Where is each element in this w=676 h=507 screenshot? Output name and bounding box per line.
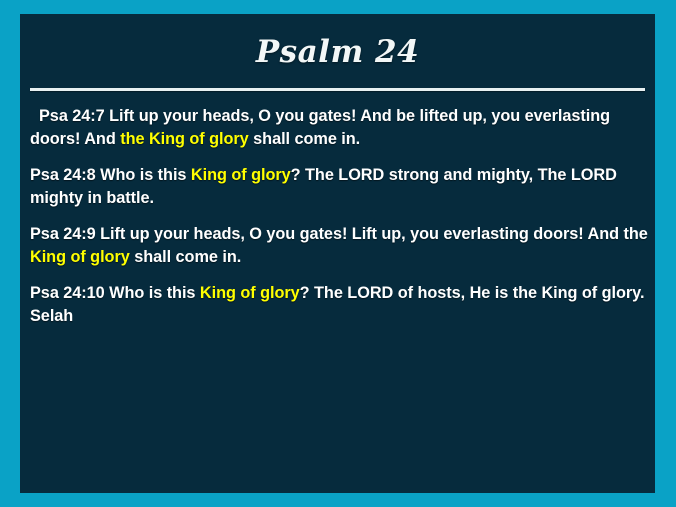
page-title: Psalm 24 xyxy=(20,36,655,69)
highlighted-phrase: the King of glory xyxy=(120,130,249,148)
highlighted-phrase: King of glory xyxy=(191,166,291,184)
verse-text: Psa 24:8 Who is this xyxy=(30,166,191,184)
verse-list: Psa 24:7 Lift up your heads, O you gates… xyxy=(30,105,655,327)
title-divider xyxy=(30,88,645,91)
verse-paragraph: Psa 24:10 Who is this King of glory? The… xyxy=(30,282,655,327)
highlighted-phrase: King of glory xyxy=(30,248,130,266)
verse-text: Psa 24:10 Who is this xyxy=(30,284,200,302)
slide-content-panel: Psalm 24 Psa 24:7 Lift up your heads, O … xyxy=(20,14,655,493)
verse-paragraph: Psa 24:7 Lift up your heads, O you gates… xyxy=(30,105,655,150)
verse-text: shall come in. xyxy=(130,248,241,266)
highlighted-phrase: King of glory xyxy=(200,284,300,302)
verse-text: Psa 24:9 Lift up your heads, O you gates… xyxy=(30,225,648,243)
verse-paragraph: Psa 24:8 Who is this King of glory? The … xyxy=(30,164,655,209)
verse-paragraph: Psa 24:9 Lift up your heads, O you gates… xyxy=(30,223,655,268)
presentation-slide: Psalm 24 Psa 24:7 Lift up your heads, O … xyxy=(0,0,676,507)
verse-text: shall come in. xyxy=(249,130,360,148)
